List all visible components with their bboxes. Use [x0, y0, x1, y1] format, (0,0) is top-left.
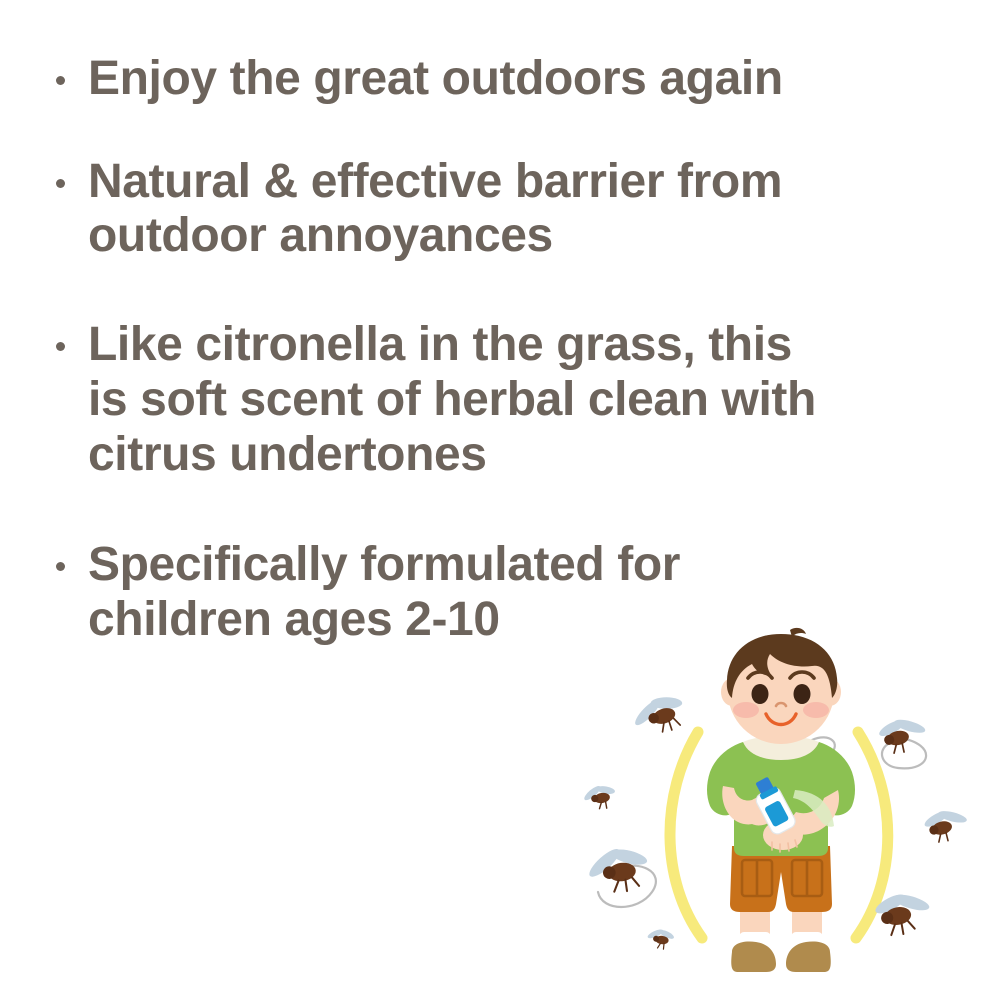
cheek-right: [803, 702, 829, 718]
mosquito: [645, 926, 676, 950]
list-item-text: Enjoy the great outdoors again: [88, 52, 960, 107]
product-benefits-card: Enjoy the great outdoors again Natural &…: [0, 0, 1000, 1000]
head: [721, 628, 841, 744]
bullet-dot-icon: [56, 342, 65, 351]
shoes: [731, 941, 831, 972]
mosquito: [583, 841, 653, 897]
eye-left: [752, 684, 769, 704]
eye-right: [794, 684, 811, 704]
boy-spraying-repellent-illustration: [580, 620, 1000, 1000]
list-item: Natural & effective barrier from outdoor…: [50, 155, 960, 264]
cheek-left: [733, 702, 759, 718]
bullet-dot-icon: [56, 562, 65, 571]
mosquito: [581, 781, 619, 812]
list-item-text: Natural & effective barrier from outdoor…: [88, 155, 960, 264]
list-item-text: Like citronella in the grass, this is so…: [88, 318, 960, 482]
list-item: Enjoy the great outdoors again: [50, 52, 960, 107]
list-item: Like citronella in the grass, this is so…: [50, 318, 960, 482]
benefits-bullet-list: Enjoy the great outdoors again Natural &…: [50, 52, 960, 648]
boy-figure: [707, 628, 855, 972]
mosquito: [921, 803, 973, 846]
bullet-dot-icon: [56, 76, 65, 85]
mosquito: [627, 688, 691, 741]
bullet-dot-icon: [56, 179, 65, 188]
